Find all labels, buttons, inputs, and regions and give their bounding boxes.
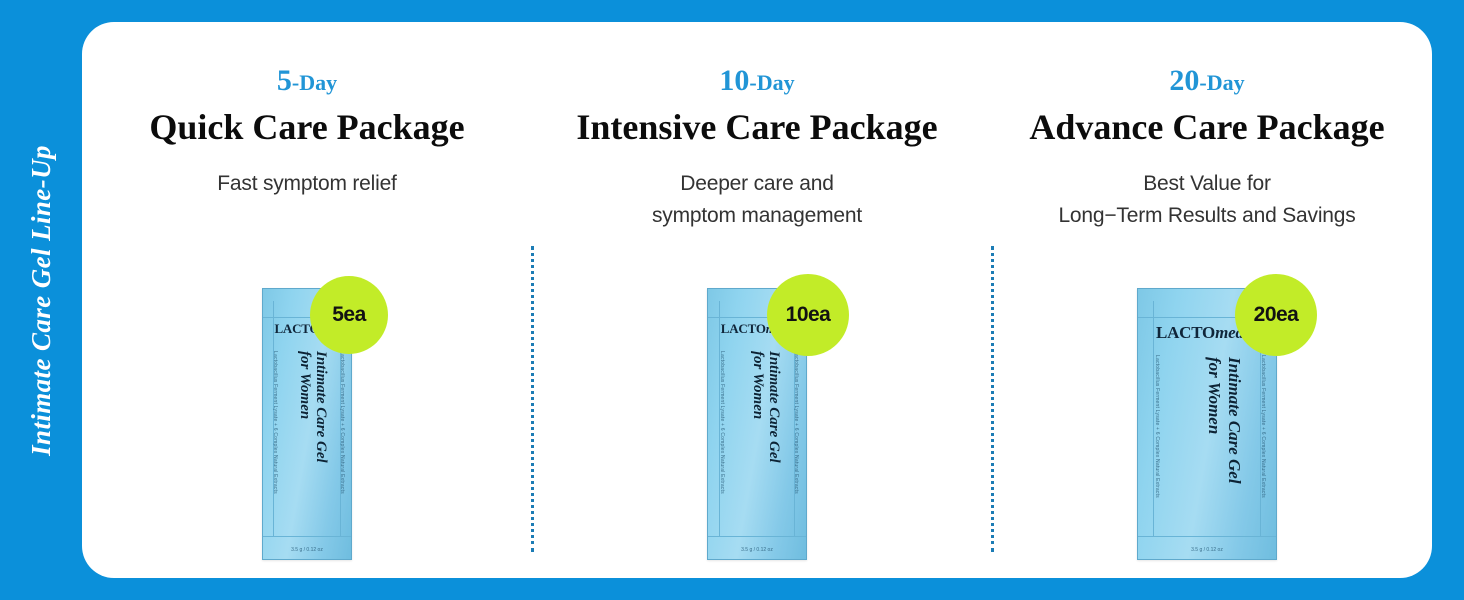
brand-logo: LACTOmed <box>1156 323 1244 343</box>
product-name-line1: Intimate Care Gel <box>1224 357 1244 484</box>
package-description: Deeper care and symptom management <box>652 168 862 232</box>
product-side-text-left: Lactobacillus Ferment Lysate + 6 Complex… <box>272 351 278 494</box>
package-description: Best Value for Long−Term Results and Sav… <box>1058 168 1355 232</box>
product-inner: LACTOmed Intimate Care Gel for Women Lac… <box>1137 288 1277 560</box>
day-label: 5-Day <box>277 66 337 96</box>
day-number: 5 <box>277 64 292 97</box>
quantity-badge: 20ea <box>1235 274 1317 356</box>
package-description-line2: symptom management <box>652 200 862 232</box>
day-number: 10 <box>719 64 749 97</box>
package-title: Advance Care Package <box>1029 108 1384 148</box>
product-side-text-right: Lactobacillus Ferment Lysate + 6 Complex… <box>793 351 799 494</box>
product-area: LACTOmed Intimate Care Gel for Women Lac… <box>982 260 1432 560</box>
product-side-text-left: Lactobacillus Ferment Lysate + 6 Complex… <box>1154 355 1160 498</box>
box-bottom-rule <box>1138 536 1276 537</box>
product-volume: 3.5 g / 0.12 oz <box>1138 547 1276 553</box>
quantity-badge: 5ea <box>310 276 388 354</box>
quantity-badge: 10ea <box>767 274 849 356</box>
product-name-line1: Intimate Care Gel <box>765 351 782 463</box>
product-area: LACTOmed Intimate Care Gel for Women Lac… <box>82 260 532 560</box>
package-description: Fast symptom relief <box>217 168 396 200</box>
product-side-text-left: Lactobacillus Ferment Lysate + 6 Complex… <box>719 351 725 494</box>
product-side-text-right: Lactobacillus Ferment Lysate + 6 Complex… <box>1260 355 1266 498</box>
package-column-intensive[interactable]: 10-Day Intensive Care Package Deeper car… <box>532 22 982 578</box>
product-side-text-right: Lactobacillus Ferment Lysate + 6 Complex… <box>339 351 345 494</box>
brand-prefix: LACTO <box>721 321 766 336</box>
side-title: Intimate Care Gel Line-Up <box>0 0 82 600</box>
day-suffix: -Day <box>292 70 337 95</box>
product-name-line2: for Women <box>296 351 313 419</box>
package-title: Intensive Care Package <box>576 108 937 148</box>
day-number: 20 <box>1169 64 1199 97</box>
product-volume: 3.5 g / 0.12 oz <box>263 547 351 553</box>
product-volume: 3.5 g / 0.12 oz <box>708 547 806 553</box>
product-name-line2: for Women <box>749 351 766 419</box>
package-column-advance[interactable]: 20-Day Advance Care Package Best Value f… <box>982 22 1432 578</box>
package-column-quick[interactable]: 5-Day Quick Care Package Fast symptom re… <box>82 22 532 578</box>
box-bottom-rule <box>708 536 806 537</box>
side-title-text: Intimate Care Gel Line-Up <box>26 145 57 456</box>
package-columns: 5-Day Quick Care Package Fast symptom re… <box>82 22 1432 578</box>
box-bottom-rule <box>263 536 351 537</box>
product-inner: LACTOmed Intimate Care Gel for Women Lac… <box>707 288 807 560</box>
content-card: 5-Day Quick Care Package Fast symptom re… <box>82 22 1432 578</box>
day-suffix: -Day <box>1199 70 1244 95</box>
product-inner: LACTOmed Intimate Care Gel for Women Lac… <box>262 288 352 560</box>
product-area: LACTOmed Intimate Care Gel for Women Lac… <box>532 260 982 560</box>
package-description-line2: Long−Term Results and Savings <box>1058 200 1355 232</box>
product-name-line2: for Women <box>1204 357 1224 434</box>
package-title: Quick Care Package <box>149 108 464 148</box>
product-name-line1: Intimate Care Gel <box>312 351 329 463</box>
package-description-line1: Fast symptom relief <box>217 168 396 200</box>
day-suffix: -Day <box>749 70 794 95</box>
promo-banner: Intimate Care Gel Line-Up 5-Day Quick Ca… <box>0 0 1464 600</box>
package-description-line1: Best Value for <box>1058 168 1355 200</box>
brand-prefix: LACTO <box>1156 323 1215 342</box>
day-label: 20-Day <box>1169 66 1244 96</box>
package-description-line1: Deeper care and <box>652 168 862 200</box>
day-label: 10-Day <box>719 66 794 96</box>
